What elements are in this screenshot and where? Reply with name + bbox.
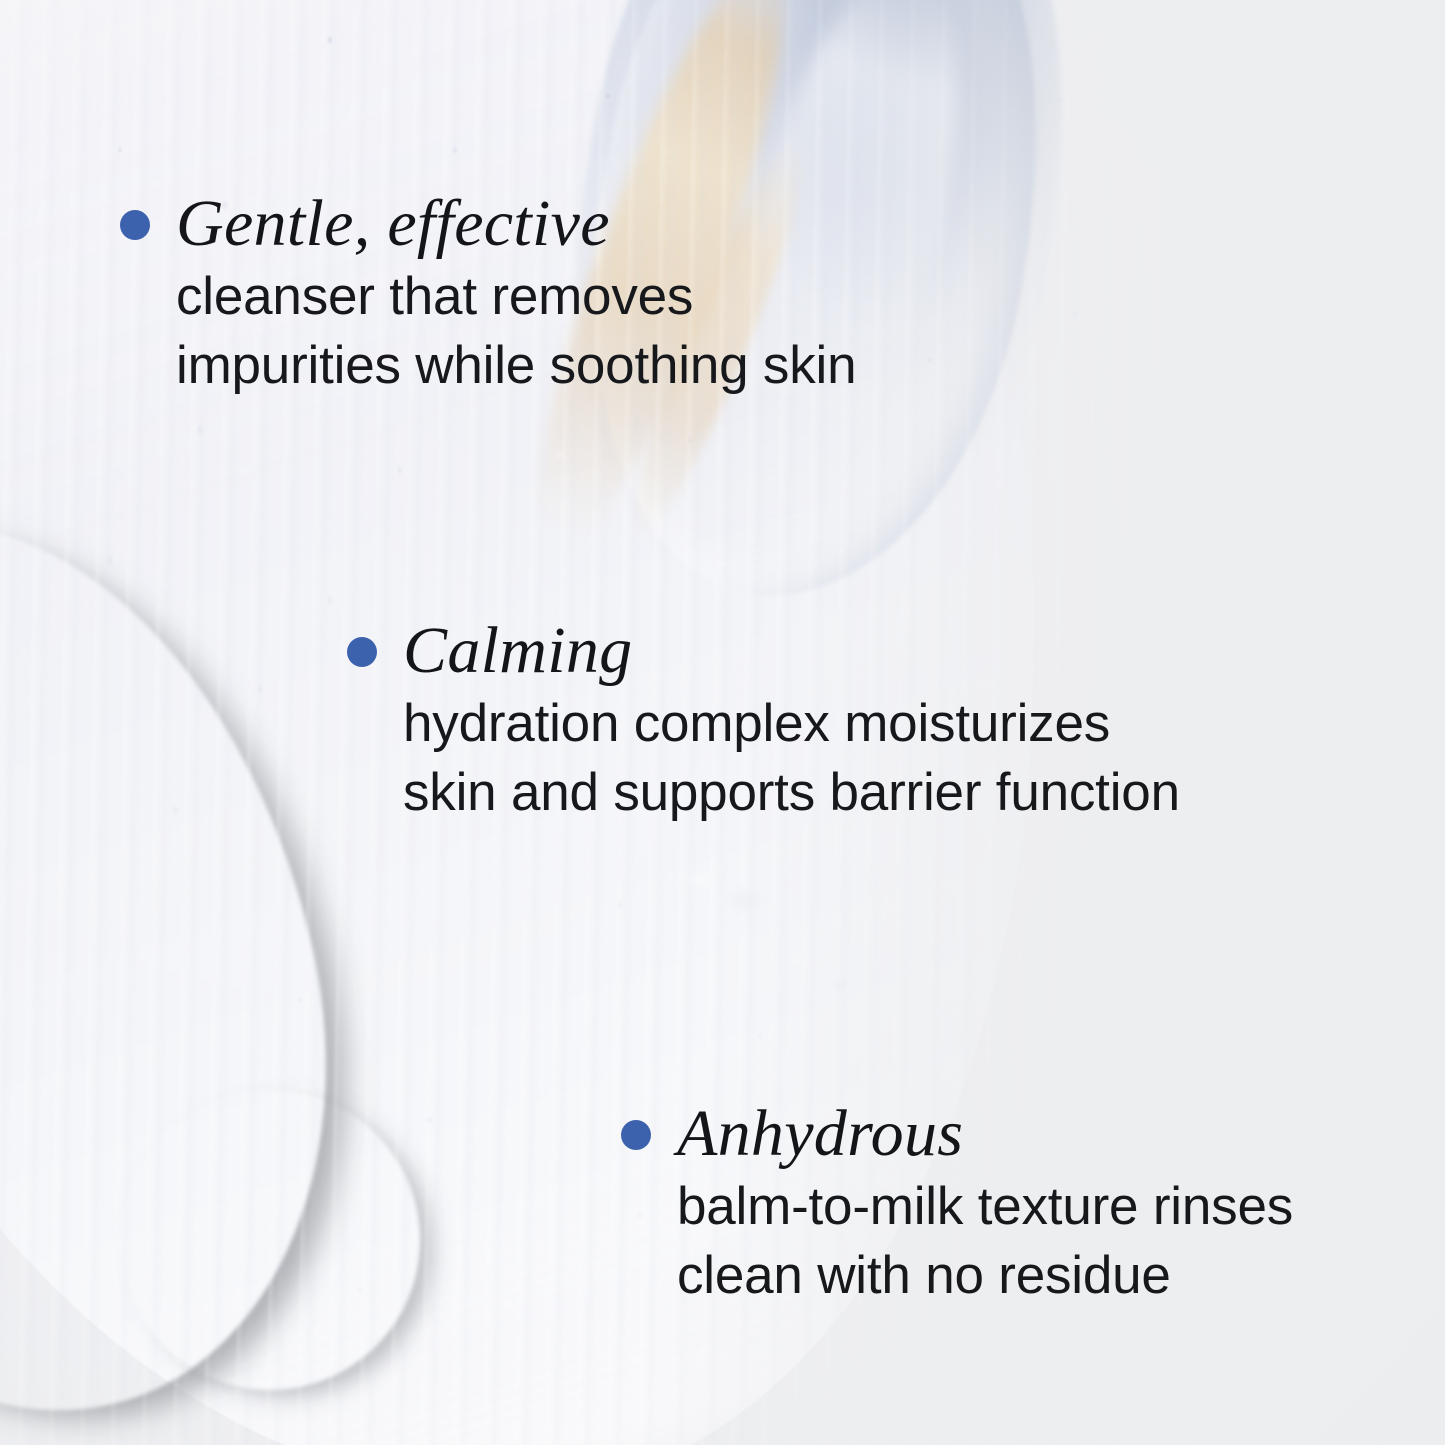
feature-heading-row: Calming xyxy=(347,617,1180,684)
feature-heading: Calming xyxy=(403,617,632,684)
product-feature-graphic: Gentle, effective cleanser that removes … xyxy=(0,0,1445,1445)
feature-heading-row: Anhydrous xyxy=(621,1100,1293,1167)
feature-body-line: cleanser that removes xyxy=(176,263,856,332)
feature-heading: Anhydrous xyxy=(677,1100,963,1167)
feature-body: cleanser that removes impurities while s… xyxy=(176,263,856,401)
feature-body-line: balm-to-milk texture rinses xyxy=(677,1173,1293,1242)
feature-heading: Gentle, effective xyxy=(176,190,610,257)
feature-body: hydration complex moisturizes skin and s… xyxy=(403,690,1180,828)
bullet-dot-icon xyxy=(621,1120,651,1150)
feature-heading-row: Gentle, effective xyxy=(120,190,856,257)
feature-item-calming: Calming hydration complex moisturizes sk… xyxy=(347,617,1180,828)
feature-body-line: hydration complex moisturizes xyxy=(403,690,1180,759)
feature-body-line: impurities while soothing skin xyxy=(176,332,856,401)
bullet-dot-icon xyxy=(120,210,150,240)
feature-body-line: skin and supports barrier function xyxy=(403,759,1180,828)
feature-list: Gentle, effective cleanser that removes … xyxy=(0,0,1445,1445)
feature-item-gentle-effective: Gentle, effective cleanser that removes … xyxy=(120,190,856,401)
bullet-dot-icon xyxy=(347,637,377,667)
feature-item-anhydrous: Anhydrous balm-to-milk texture rinses cl… xyxy=(621,1100,1293,1311)
feature-body: balm-to-milk texture rinses clean with n… xyxy=(677,1173,1293,1311)
feature-body-line: clean with no residue xyxy=(677,1242,1293,1311)
